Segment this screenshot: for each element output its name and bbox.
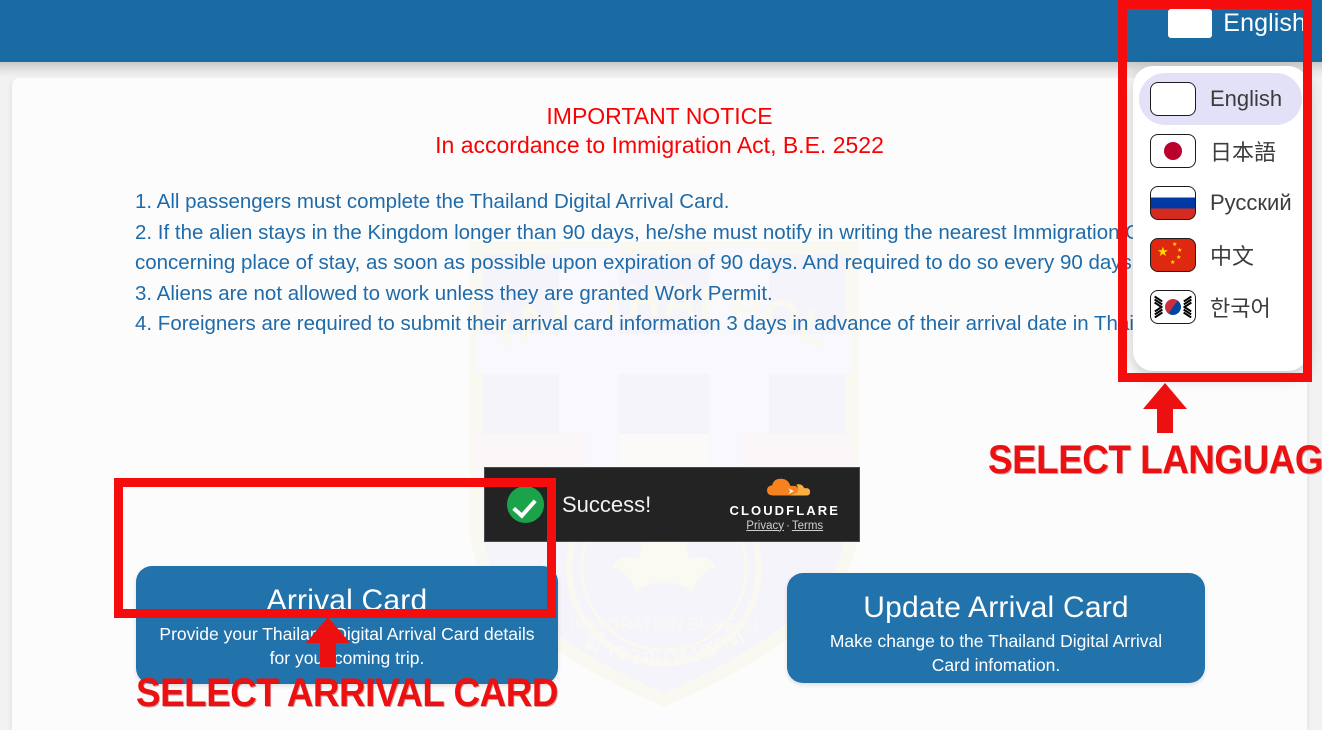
language-option-japanese[interactable]: 日本語 [1139,125,1302,177]
svg-text:ตำรวจแห่งชาติ: ตำรวจแห่งชาติ [580,620,749,673]
notice-title: IMPORTANT NOTICE [12,102,1307,131]
cloudflare-wordmark: CLOUDFLARE [729,503,840,518]
language-selector-label: English [1223,9,1306,38]
notice-item-2: 2. If the alien stays in the Kingdom lon… [135,218,1295,279]
important-notice-block: IMPORTANT NOTICE In accordance to Immigr… [12,78,1307,340]
arrival-card-button-subtitle: Provide your Thailand Digital Arrival Ca… [136,622,558,670]
russia-flag-icon [1150,186,1196,220]
notice-item-1: 1. All passengers must complete the Thai… [135,187,1295,218]
topbar-shadow [0,62,1322,78]
cloudflare-turnstile-widget[interactable]: Success! CLOUDFLARE Privacy·Terms [484,467,860,542]
language-selector[interactable]: English [1168,9,1306,38]
notice-item-4: 4. Foreigners are required to submit the… [135,309,1295,340]
terms-link[interactable]: Terms [792,520,823,532]
update-arrival-card-button-title: Update Arrival Card [787,589,1205,626]
arrival-card-button-title: Arrival Card [136,582,558,619]
korea-flag-icon [1150,290,1196,324]
update-arrival-card-button[interactable]: Update Arrival Card Make change to the T… [787,573,1205,683]
language-option-label: 日本語 [1210,135,1276,167]
topbar [0,0,1322,62]
language-option-label: English [1210,86,1282,112]
language-option-label: 한국어 [1210,291,1271,323]
uk-flag-icon [1150,82,1196,116]
language-dropdown-panel[interactable]: English 日本語 Русский ★ ★ ★ ★ ★ 中文 [1133,66,1308,371]
china-flag-icon: ★ ★ ★ ★ ★ [1150,238,1196,272]
cloudflare-cloud-icon [759,478,810,497]
success-check-icon [507,486,544,523]
language-option-label: 中文 [1210,239,1254,271]
language-option-english[interactable]: English [1139,73,1302,125]
cloudflare-links: Privacy·Terms [729,520,840,532]
arrival-card-button[interactable]: Arrival Card Provide your Thailand Digit… [136,566,558,684]
language-option-korean[interactable]: 한국어 [1139,281,1302,333]
notice-body: 1. All passengers must complete the Thai… [135,187,1295,340]
svg-text:IMMIGRATION BUREAU: IMMIGRATION BUREAU [569,615,759,634]
page-content-card: ROYAL THAI POLICE IMMIGRATION BUREAU IMM… [12,78,1307,730]
language-option-label: Русский [1210,190,1292,216]
cloudflare-branding: CLOUDFLARE Privacy·Terms [729,478,840,532]
uk-flag-icon [1168,9,1212,38]
language-option-chinese[interactable]: ★ ★ ★ ★ ★ 中文 [1139,229,1302,281]
link-separator: · [784,520,792,532]
notice-subtitle: In accordance to Immigration Act, B.E. 2… [12,131,1307,160]
language-option-russian[interactable]: Русский [1139,177,1302,229]
japan-flag-icon [1150,134,1196,168]
turnstile-status-text: Success! [562,492,651,518]
privacy-link[interactable]: Privacy [746,520,784,532]
notice-item-3: 3. Aliens are not allowed to work unless… [135,279,1295,310]
update-arrival-card-button-subtitle: Make change to the Thailand Digital Arri… [787,629,1205,677]
